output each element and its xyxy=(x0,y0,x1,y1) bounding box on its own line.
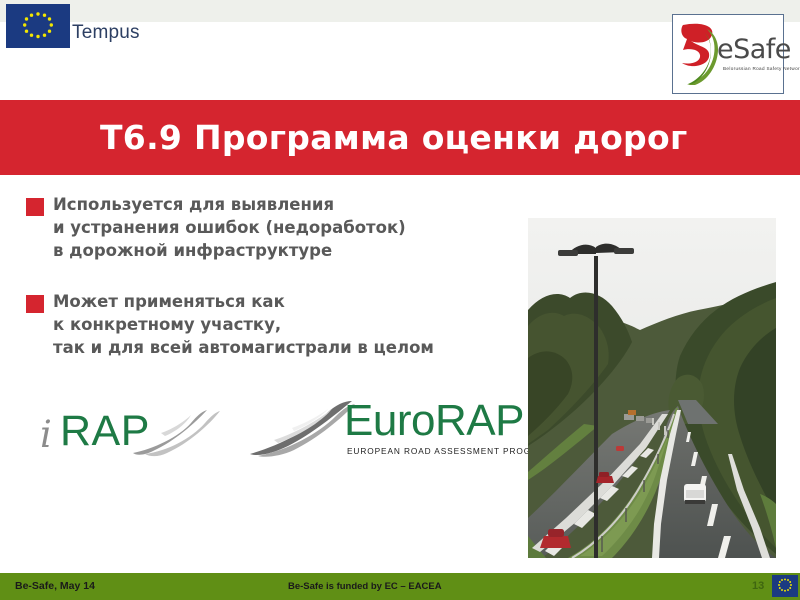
road-photo-illustration xyxy=(528,218,776,558)
tempus-label: Tempus xyxy=(72,22,140,44)
footer-center-text: Be-Safe is funded by EC – EACEA xyxy=(288,581,442,592)
page-number: 13 xyxy=(752,580,764,592)
esafe-wordmark: eSafe xyxy=(717,34,791,65)
eurorap-wordmark: EuroRAP xyxy=(344,396,524,446)
bullet-list: Используется для выявления и устранения … xyxy=(26,193,526,387)
esafe-logo: eSafe Belorussian Road Safety Network xyxy=(672,14,784,94)
eurorap-logo: EuroRAP EUROPEAN ROAD ASSESSMENT PROGRAM… xyxy=(248,396,520,466)
eu-flag-icon xyxy=(6,4,70,48)
road-photo xyxy=(528,218,776,558)
bullet-line: Используется для выявления xyxy=(53,193,526,216)
irap-logo: i RAP xyxy=(36,403,216,461)
bullet-text: Используется для выявления и устранения … xyxy=(53,193,526,262)
footer-left-text: Be-Safe, May 14 xyxy=(15,580,95,592)
bullet-text: Может применяться как к конкретному учас… xyxy=(53,290,526,359)
slide: Tempus eSafe Belorussian Road Safety Net… xyxy=(0,0,800,600)
bullet-line: и устранения ошибок (недоработок) xyxy=(53,216,526,239)
eu-stars-icon xyxy=(7,5,69,47)
bullet-line: Может применяться как xyxy=(53,290,526,313)
bullet-line: так и для всей автомагистрали в целом xyxy=(53,336,526,359)
eurorap-swoosh-icon xyxy=(248,400,356,458)
list-item: Используется для выявления и устранения … xyxy=(26,193,526,262)
page-title: Т6.9 Программа оценки дорог xyxy=(0,100,800,175)
eu-stars-footer-icon xyxy=(772,575,798,597)
bullet-line: к конкретному участку, xyxy=(53,313,526,336)
irap-swoosh-icon xyxy=(131,407,221,459)
irap-prefix: i xyxy=(40,413,52,456)
list-item: Может применяться как к конкретному учас… xyxy=(26,290,526,359)
bullet-square-icon xyxy=(26,295,44,313)
esafe-subtitle: Belorussian Road Safety Network xyxy=(723,66,800,71)
title-bar: Т6.9 Программа оценки дорог xyxy=(0,100,800,175)
bullet-line: в дорожной инфраструктуре xyxy=(53,239,526,262)
esafe-mark-icon xyxy=(677,19,721,91)
eu-flag-footer-icon xyxy=(772,575,798,597)
bullet-square-icon xyxy=(26,198,44,216)
